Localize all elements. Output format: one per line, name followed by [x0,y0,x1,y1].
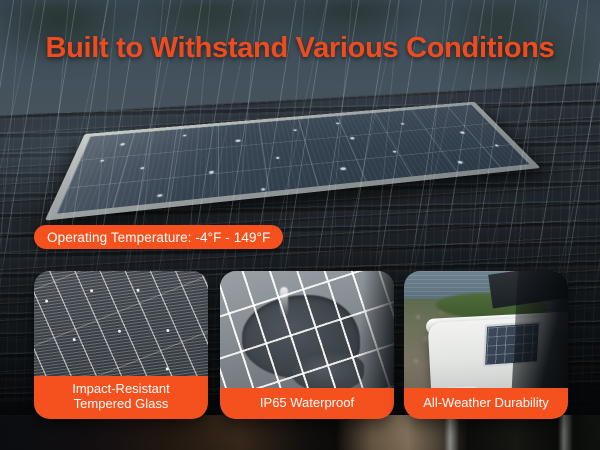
feature-card-ip65-waterproof[interactable]: IP65 Waterproof [220,271,394,419]
card1-label-line1: Impact-Resistant [40,381,202,396]
feature-card-all-weather[interactable]: All-Weather Durability [404,271,568,419]
card-label-impact-resistant: Impact-Resistant Tempered Glass [34,376,208,419]
operating-temperature-badge: Operating Temperature: -4°F - 149°F [34,225,283,249]
solar-panel-cells [57,105,530,214]
card-label-ip65-waterproof: IP65 Waterproof [220,388,394,419]
card-label-all-weather: All-Weather Durability [404,388,568,419]
rain-droplets-on-panel [57,105,530,214]
page-title: Built to Withstand Various Conditions [0,32,600,65]
solar-panel-body [45,102,541,221]
main-solar-panel [80,86,580,236]
marketing-banner: Built to Withstand Various Conditions Op… [0,0,600,450]
card3-label-line1: All-Weather Durability [410,395,562,410]
feature-card-impact-resistant[interactable]: Impact-Resistant Tempered Glass [34,271,208,419]
card1-label-line2: Tempered Glass [40,396,202,411]
feature-card-row: Impact-Resistant Tempered Glass IP65 Wat… [0,271,600,421]
operating-temperature-label: Operating Temperature: -4°F - 149°F [47,230,270,245]
card2-label-line1: IP65 Waterproof [226,395,388,410]
